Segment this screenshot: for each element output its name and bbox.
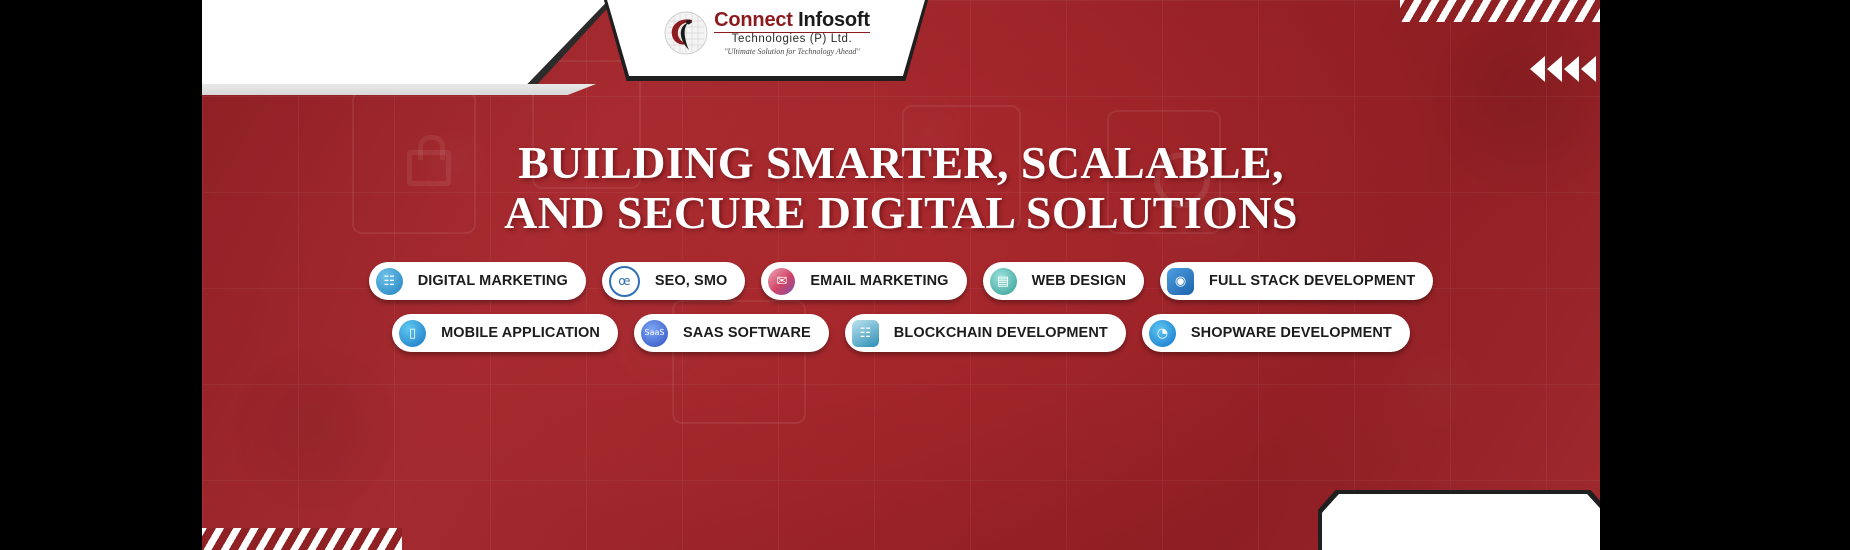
ghost-card-icon: [1107, 110, 1221, 234]
banner-stage: Connect Infosoft Technologies (P) Ltd. "…: [0, 0, 1850, 550]
gear-watermark-icon: [1154, 152, 1210, 208]
service-label: SEO, SMO: [649, 273, 728, 289]
services-list: ☷ DIGITAL MARKETING œ SEO, SMO ✉ EMAIL M…: [202, 262, 1600, 352]
service-pill-full-stack-development[interactable]: ◉ FULL STACK DEVELOPMENT: [1160, 262, 1433, 300]
arrow-left-icon: [1530, 56, 1545, 82]
ci-monogram-icon: [662, 9, 710, 57]
service-label: SAAS SOFTWARE: [677, 325, 811, 341]
service-label: BLOCKCHAIN DEVELOPMENT: [888, 325, 1108, 341]
service-pill-saas-software[interactable]: SaaS SAAS SOFTWARE: [634, 314, 829, 352]
service-label: MOBILE APPLICATION: [435, 325, 600, 341]
headline-line-2: AND SECURE DIGITAL SOLUTIONS: [202, 188, 1600, 238]
ghost-card-icon: [532, 60, 641, 189]
service-pill-seo-smo[interactable]: œ SEO, SMO: [602, 262, 746, 300]
service-label: DIGITAL MARKETING: [412, 273, 568, 289]
logo-wordmark: Connect Infosoft Technologies (P) Ltd. "…: [714, 10, 870, 57]
bottom-right-panel: [1322, 494, 1600, 550]
service-label: EMAIL MARKETING: [804, 273, 948, 289]
service-pill-digital-marketing[interactable]: ☷ DIGITAL MARKETING: [369, 262, 586, 300]
top-right-stripes: [1400, 0, 1600, 22]
full-stack-icon: ◉: [1167, 268, 1194, 295]
top-left-panel: [202, 0, 622, 84]
service-label: SHOPWARE DEVELOPMENT: [1185, 325, 1392, 341]
service-label: WEB DESIGN: [1026, 273, 1126, 289]
ghost-card-icon: [352, 90, 476, 234]
services-row-1: ☷ DIGITAL MARKETING œ SEO, SMO ✉ EMAIL M…: [369, 262, 1434, 300]
service-pill-shopware-development[interactable]: ◔ SHOPWARE DEVELOPMENT: [1142, 314, 1410, 352]
service-pill-mobile-application[interactable]: ▯ MOBILE APPLICATION: [392, 314, 618, 352]
logo-company-name: Connect Infosoft: [714, 10, 870, 30]
services-row-2: ▯ MOBILE APPLICATION SaaS SAAS SOFTWARE …: [392, 314, 1410, 352]
logo-name-part2: Infosoft: [798, 9, 870, 31]
headline-line-1: BUILDING SMARTER, SCALABLE,: [518, 137, 1284, 188]
lock-watermark-icon: [407, 150, 451, 186]
email-marketing-icon: ✉: [768, 268, 795, 295]
logo-name-part1: Connect: [714, 9, 793, 31]
web-design-icon: ▤: [990, 268, 1017, 295]
ghost-card-icon: [902, 105, 1021, 229]
arrow-left-icon: [1547, 56, 1562, 82]
shopware-icon: ◔: [1149, 320, 1176, 347]
top-left-panel-strip: [202, 84, 596, 95]
digital-marketing-icon: ☷: [376, 268, 403, 295]
banner-canvas: Connect Infosoft Technologies (P) Ltd. "…: [202, 0, 1600, 550]
logo-notch: Connect Infosoft Technologies (P) Ltd. "…: [603, 0, 929, 76]
bottom-left-stripes: [202, 528, 402, 550]
blockchain-icon: ☷: [852, 320, 879, 347]
company-logo[interactable]: Connect Infosoft Technologies (P) Ltd. "…: [662, 9, 870, 57]
logo-tagline: "Ultimate Solution for Technology Ahead": [714, 48, 870, 56]
saas-software-icon: SaaS: [641, 320, 668, 347]
service-pill-email-marketing[interactable]: ✉ EMAIL MARKETING: [761, 262, 966, 300]
service-pill-blockchain-development[interactable]: ☷ BLOCKCHAIN DEVELOPMENT: [845, 314, 1126, 352]
arrow-left-icon: [1564, 56, 1579, 82]
service-pill-web-design[interactable]: ▤ WEB DESIGN: [983, 262, 1144, 300]
mobile-application-icon: ▯: [399, 320, 426, 347]
left-arrows-icon: [1530, 56, 1596, 82]
logo-subtitle: Technologies (P) Ltd.: [714, 32, 870, 46]
page-title: BUILDING SMARTER, SCALABLE, AND SECURE D…: [202, 138, 1600, 237]
arrow-left-icon: [1581, 56, 1596, 82]
service-label: FULL STACK DEVELOPMENT: [1203, 273, 1415, 289]
seo-smo-icon: œ: [609, 266, 640, 297]
